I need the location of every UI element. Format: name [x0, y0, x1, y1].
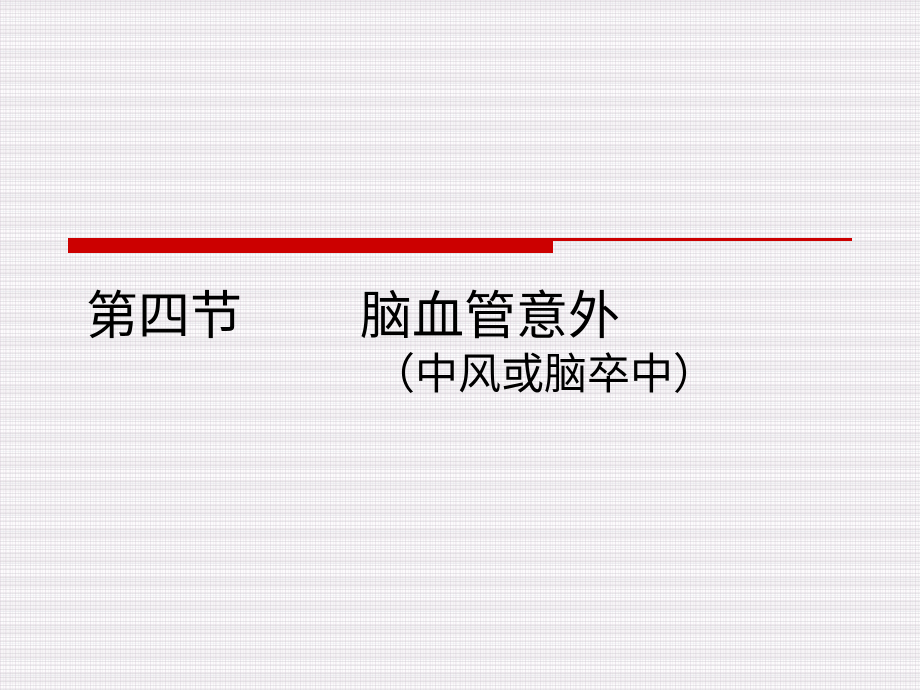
title-divider-thick-bar	[68, 238, 553, 253]
title-divider-thin-line	[553, 238, 852, 241]
title-line-primary: 第四节脑血管意外	[0, 285, 920, 351]
section-label: 第四节	[86, 289, 242, 346]
page-title: 脑血管意外	[360, 289, 620, 346]
slide-canvas: 第四节脑血管意外 （中风或脑卒中）	[0, 0, 920, 690]
page-subtitle: （中风或脑卒中）	[0, 348, 920, 404]
